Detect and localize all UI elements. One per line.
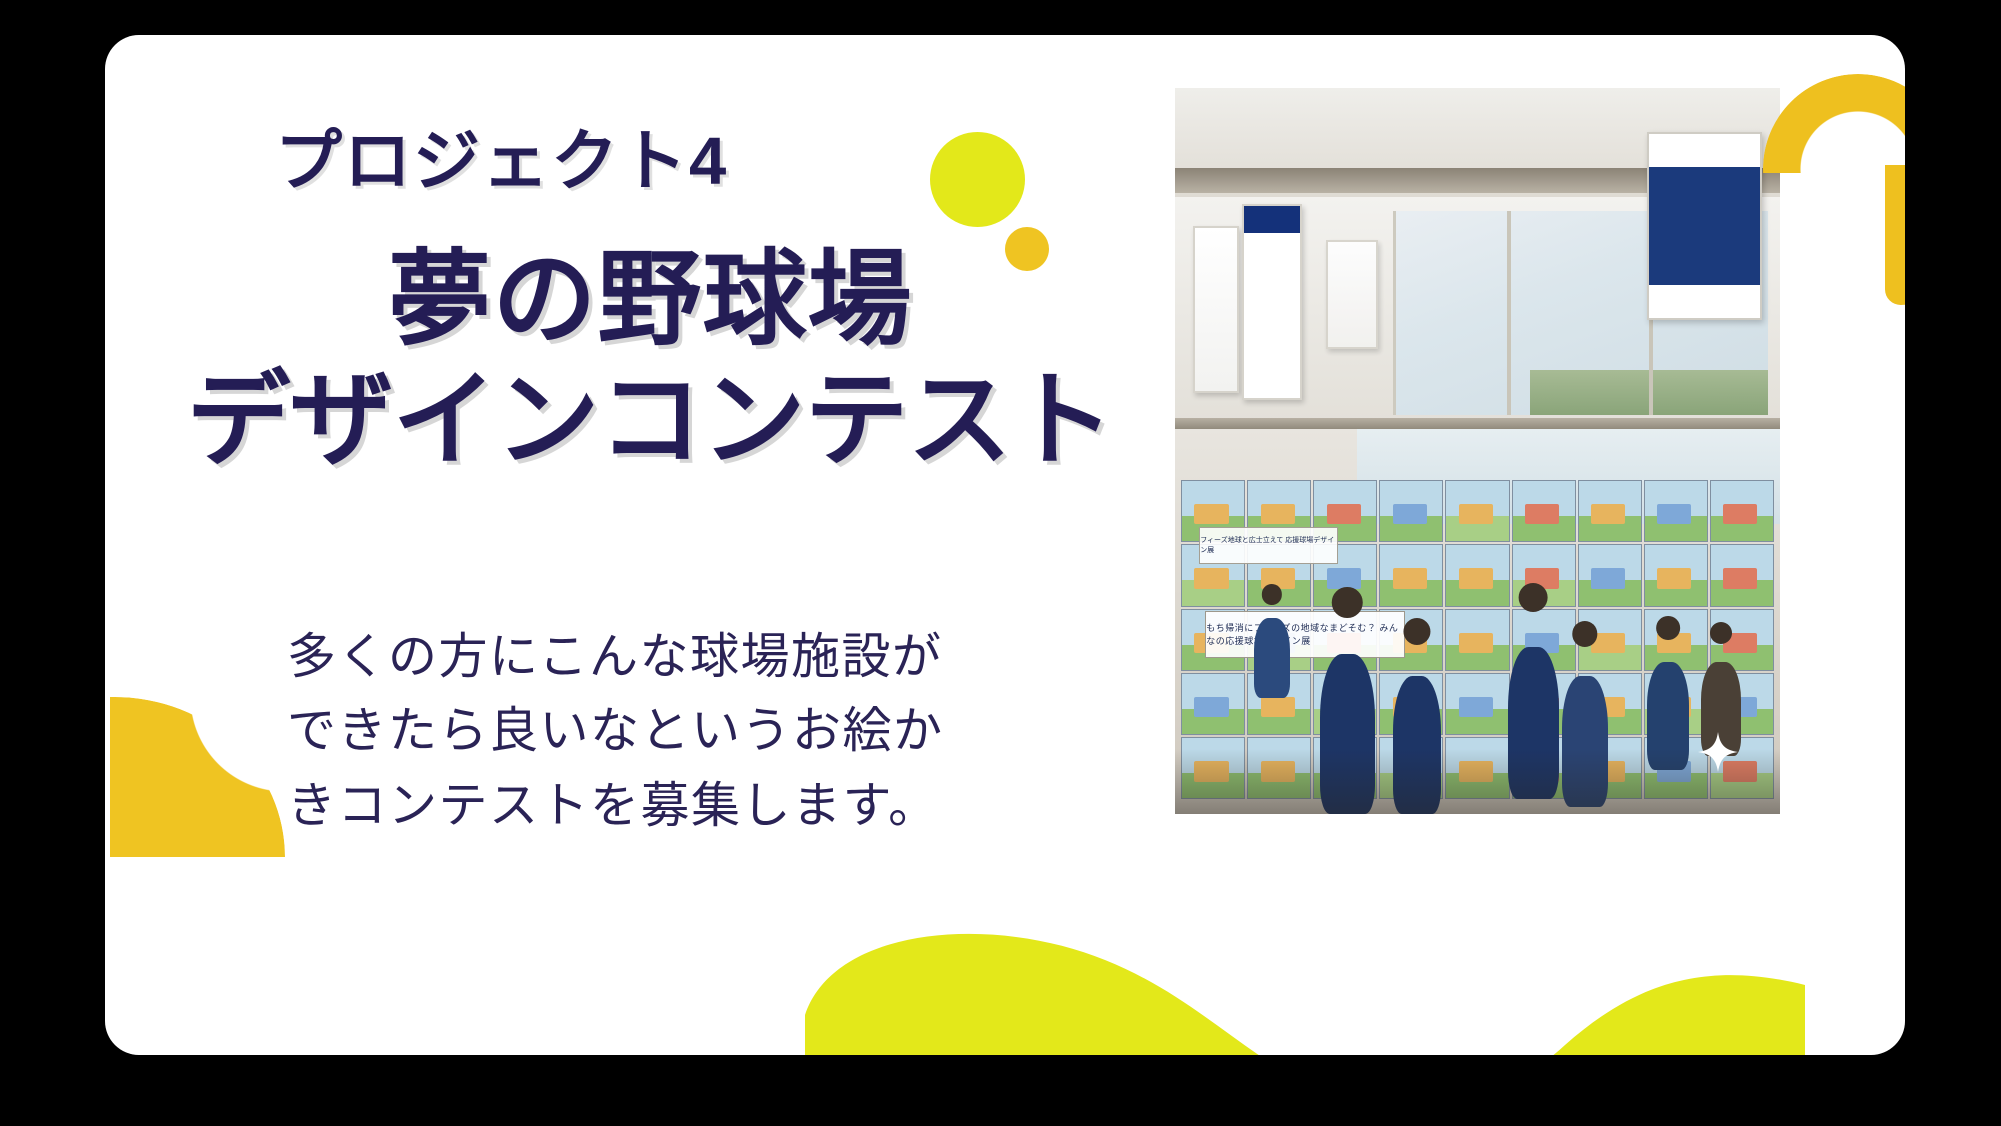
photo-sign-main: もち帰消にフィーズの地域なまどそむ？ みんなの応援球場デザイン展	[1205, 611, 1405, 658]
drawing-panel	[1710, 480, 1774, 542]
photo-sign-secondary-text: フィーズ地球と広士立えて 応援球場デザイン展	[1200, 535, 1337, 555]
photo-banner-2	[1242, 204, 1303, 400]
title-line-2: デザインコンテスト	[105, 361, 1195, 482]
photo-foreground-shade	[1175, 749, 1780, 814]
photo-floor-divider	[1175, 418, 1780, 430]
slide-stage: プロジェクト4 夢の野球場 デザインコンテスト 多くの方にこんな球場施設ができた…	[0, 0, 2001, 1126]
drawing-panel	[1578, 544, 1642, 606]
photo-sign-main-text: もち帰消にフィーズの地域なまどそむ？ みんなの応援球場デザイン展	[1206, 621, 1404, 647]
drawing-panel	[1644, 544, 1708, 606]
exhibition-photo: フィーズ地球と広士立えて 応援球場デザイン展 もち帰消にフィーズの地域なまどそむ…	[1175, 88, 1780, 814]
photo-banner-3	[1326, 240, 1377, 349]
drawing-panel	[1578, 480, 1642, 542]
drawing-panel	[1445, 480, 1509, 542]
photo-content: フィーズ地球と広士立えて 応援球場デザイン展 もち帰消にフィーズの地域なまどそむ…	[1175, 88, 1780, 814]
photo-banner-1	[1193, 226, 1238, 393]
drawing-panel	[1512, 480, 1576, 542]
sparkle-icon	[1698, 732, 1738, 772]
slide-title: 夢の野球場 デザインコンテスト	[105, 240, 1195, 481]
drawing-panel	[1445, 609, 1509, 671]
photo-sign-secondary: フィーズ地球と広士立えて 応援球場デザイン展	[1199, 527, 1338, 563]
project-kicker: プロジェクト4	[275, 125, 728, 199]
slide-card: プロジェクト4 夢の野球場 デザインコンテスト 多くの方にこんな球場施設ができた…	[105, 35, 1905, 1055]
drawing-panel	[1379, 544, 1443, 606]
title-line-1: 夢の野球場	[105, 240, 1195, 361]
slide-body-text: 多くの方にこんな球場施設ができたら良いなというお絵かきコンテストを募集します。	[287, 620, 987, 843]
drawing-panel	[1710, 544, 1774, 606]
gold-arc-top-right-decoration	[1763, 74, 1905, 264]
drawing-panel	[1644, 480, 1708, 542]
photo-person	[1254, 618, 1290, 698]
photo-poster-top-right	[1647, 132, 1762, 321]
drawing-panel	[1445, 673, 1509, 735]
photo-greenery	[1530, 370, 1768, 415]
text-column: プロジェクト4 夢の野球場 デザインコンテスト 多くの方にこんな球場施設ができた…	[105, 35, 1215, 1055]
drawing-panel	[1445, 544, 1509, 606]
drawing-panel	[1181, 673, 1245, 735]
drawing-panel	[1379, 480, 1443, 542]
gold-arc-tail-decoration	[1885, 165, 1905, 305]
